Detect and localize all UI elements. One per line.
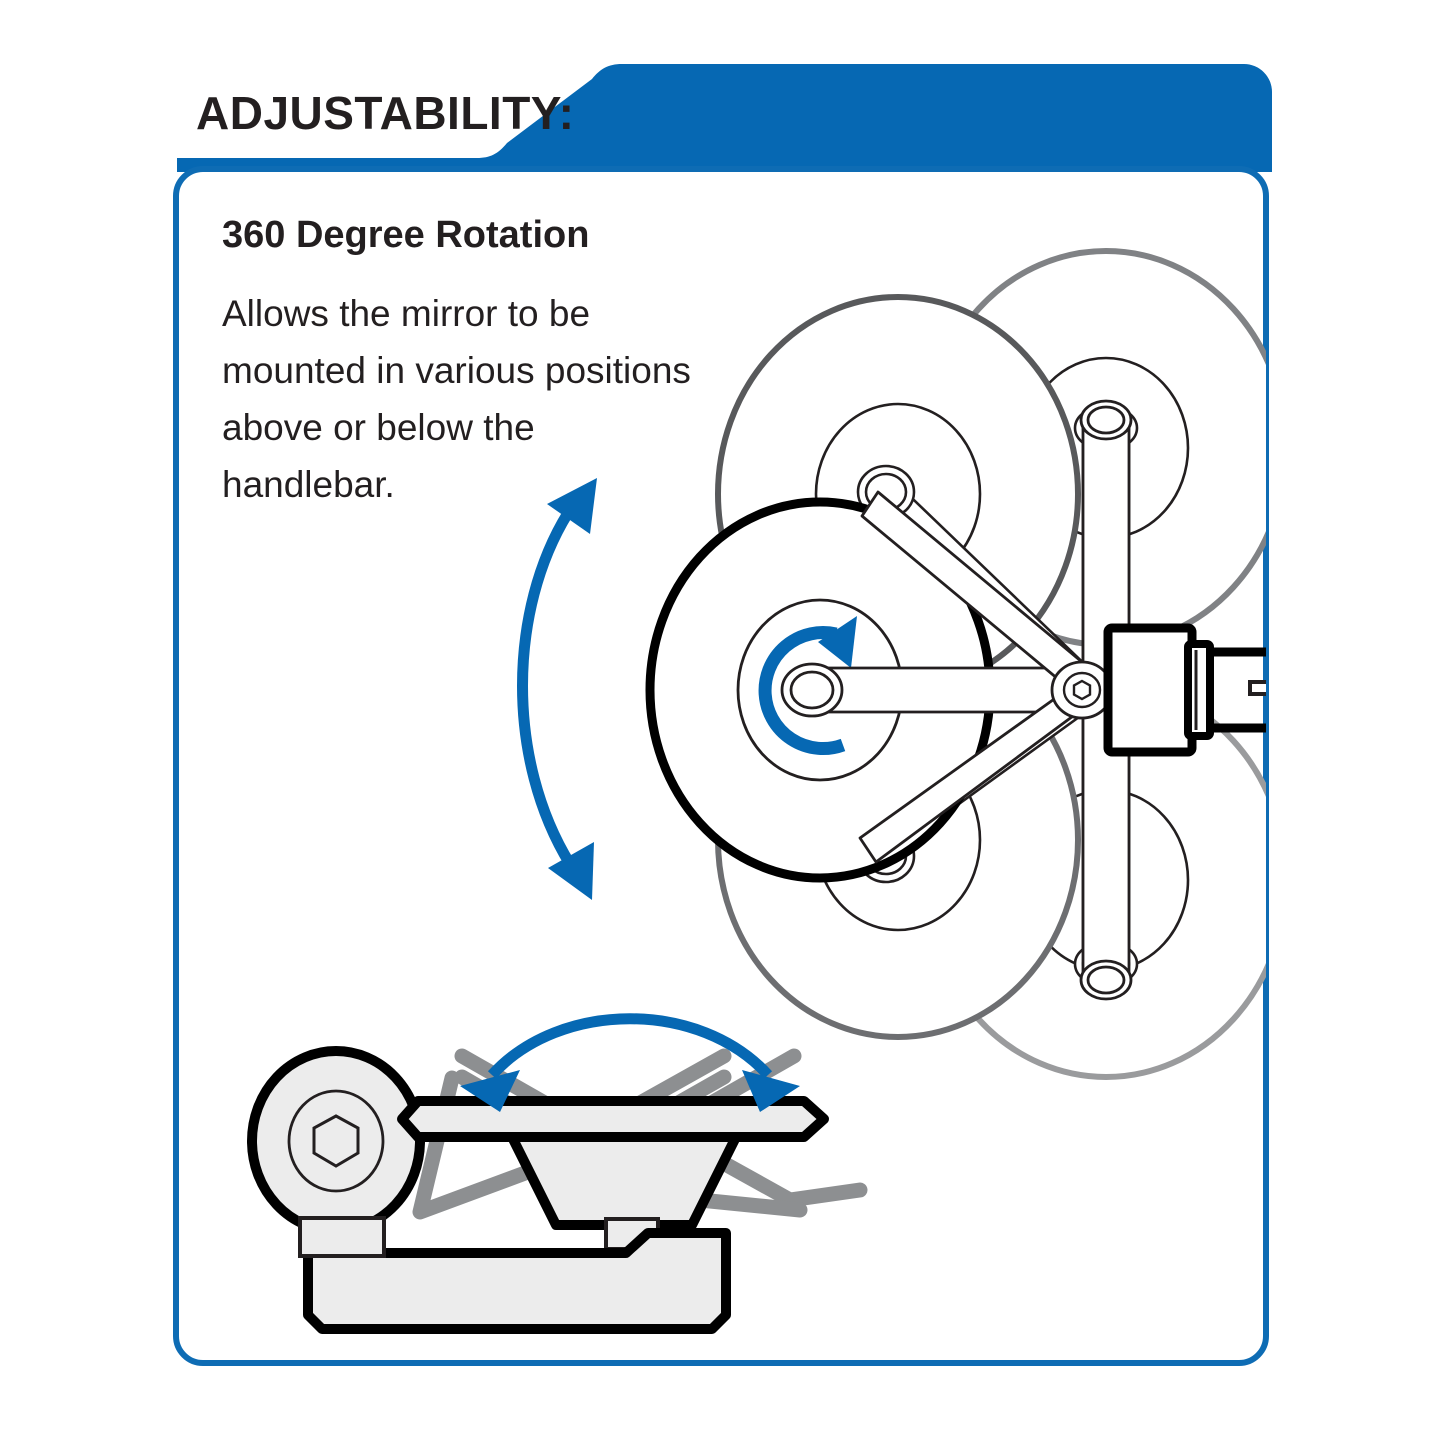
handlebar-clamp	[1108, 628, 1210, 752]
handlebar-tube	[1208, 652, 1290, 728]
mirror-mount-side-view	[252, 1019, 860, 1329]
mount-body	[512, 1137, 736, 1225]
swing-arc-arrow-icon	[523, 478, 598, 900]
section-heading: 360 Degree Rotation	[222, 214, 589, 257]
section-body-text: Allows the mirror to be mounted in vario…	[222, 285, 702, 513]
mount-pivot-disc	[252, 1051, 420, 1231]
pivot-hub	[1052, 662, 1112, 718]
page-title: ADJUSTABILITY:	[196, 86, 574, 140]
mount-riser	[300, 1218, 384, 1256]
infographic-panel: ADJUSTABILITY: 360 Degree Rotation Allow…	[0, 0, 1440, 1440]
panel-artwork	[0, 0, 1440, 1440]
mirror-rotation-illustration	[650, 251, 1290, 1077]
